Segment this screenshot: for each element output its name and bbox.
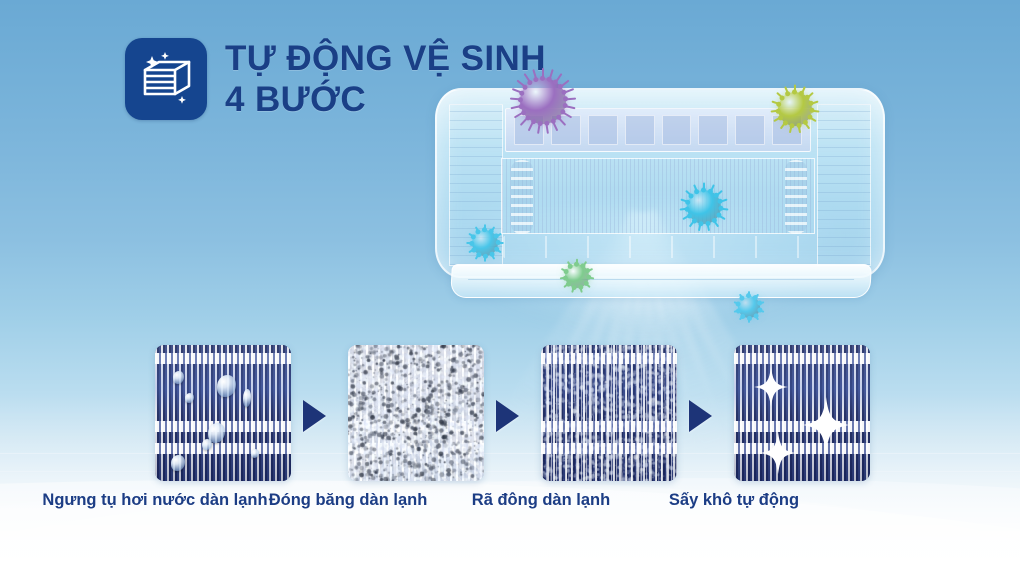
coil-band: [541, 421, 677, 432]
four-step-process: Ngưng tụ hơi nước dàn lạnh Đóng băng dàn…: [0, 340, 1020, 500]
coil-band: [541, 353, 677, 364]
germ-cyan-large-icon: [687, 190, 721, 224]
germ-cyan-small-icon: [472, 230, 498, 256]
germ-green-icon: [565, 264, 589, 288]
ac-evaporator-coil: [501, 158, 815, 234]
ac-right-internals: [817, 104, 871, 266]
step-caption-4: Sấy khô tự động: [619, 490, 849, 512]
page-title-line-1: TỰ ĐỘNG VỆ SINH: [225, 40, 546, 77]
arrow-step-2-to-3: [496, 400, 519, 432]
coil-band: [155, 353, 291, 364]
step-thumbnail-condensation[interactable]: [155, 345, 291, 481]
germ-yellow-green-icon: [778, 92, 812, 126]
ac-blower-right: [785, 160, 807, 234]
ac-blower-left: [511, 160, 533, 234]
ac-housing: [435, 88, 885, 278]
step-thumbnail-auto-dry[interactable]: [734, 345, 870, 481]
frost-speckle-texture: [348, 345, 484, 481]
coil-sheen: [734, 345, 870, 481]
coil-band: [734, 421, 870, 432]
step-thumbnail-freezing[interactable]: [348, 345, 484, 481]
air-conditioner-illustration: [425, 78, 895, 313]
germ-cyan-bottom-icon: [738, 296, 760, 318]
coil-band: [734, 443, 870, 454]
ac-air-outlet-louver: [503, 236, 813, 258]
arrow-step-1-to-2: [303, 400, 326, 432]
coil-band: [541, 443, 677, 454]
meltwater-speckle-texture: [541, 345, 677, 481]
ac-swing-flap: [450, 264, 872, 298]
arrow-step-3-to-4: [689, 400, 712, 432]
step-thumbnail-defrost[interactable]: [541, 345, 677, 481]
germ-purple-icon: [520, 78, 566, 124]
coil-band: [734, 353, 870, 364]
auto-clean-coil-icon: [125, 38, 207, 120]
coil-band: [155, 443, 291, 454]
